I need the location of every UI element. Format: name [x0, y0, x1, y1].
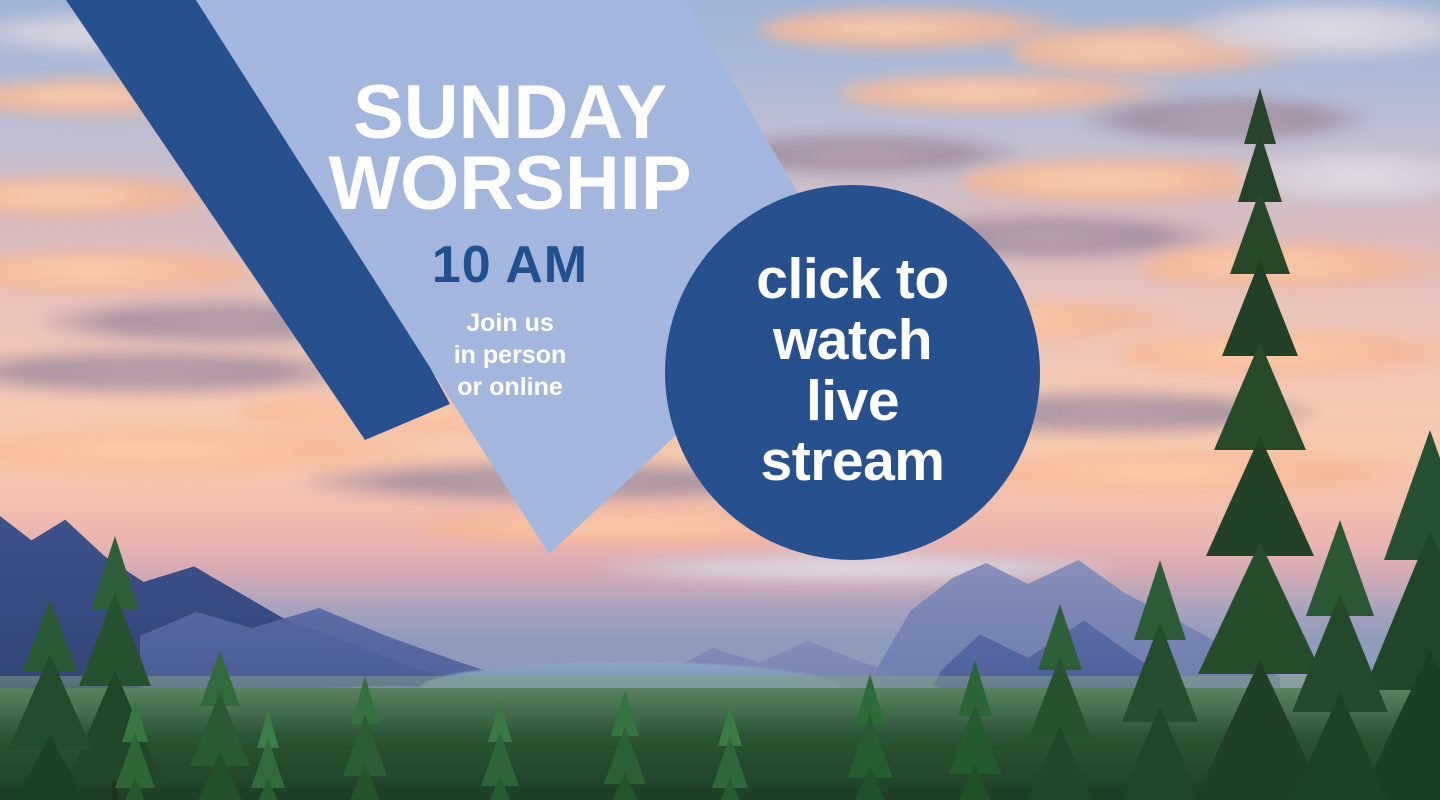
cta-line-3: live [756, 371, 948, 432]
promo-banner: SUNDAY WORSHIP 10 AM Join us in person o… [0, 0, 1440, 800]
watch-live-stream-button[interactable]: click to watch live stream [665, 185, 1040, 560]
service-subtext: Join us in person or online [300, 307, 720, 403]
cta-label: click to watch live stream [756, 249, 948, 497]
cta-line-1: click to [756, 249, 948, 310]
cta-line-2: watch [756, 310, 948, 371]
cta-line-4: stream [756, 431, 948, 492]
subtext-line-1: Join us [300, 307, 720, 339]
headline-line-1: SUNDAY [300, 78, 720, 149]
headline-block: SUNDAY WORSHIP 10 AM Join us in person o… [300, 78, 720, 403]
subtext-line-3: or online [300, 371, 720, 403]
headline-line-2: WORSHIP [300, 149, 720, 220]
subtext-line-2: in person [300, 339, 720, 371]
service-time: 10 AM [300, 239, 720, 291]
page-title: SUNDAY WORSHIP [300, 78, 720, 219]
